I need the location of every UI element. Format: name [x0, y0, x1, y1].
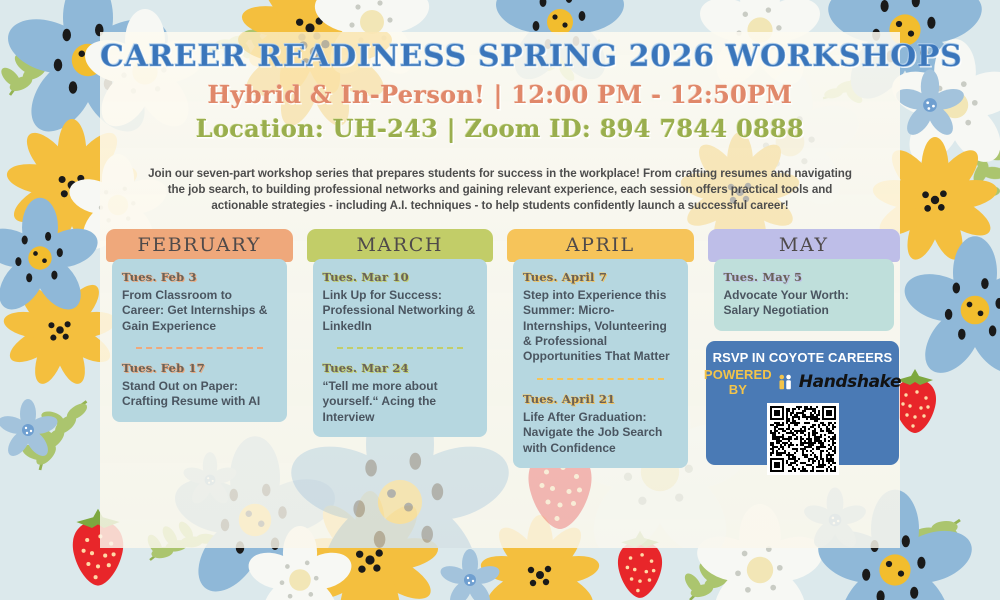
month-column-march: MARCHTues. Mar 10Link Up for Success: Pr… — [307, 229, 494, 437]
event-date: Tues. Mar 10 — [323, 270, 478, 284]
handshake-wordmark: Handshake — [799, 372, 901, 392]
month-card-april: Tues. April 7Step into Experience this S… — [513, 259, 688, 468]
event-date: Tues. May 5 — [724, 270, 884, 284]
event-title: “Tell me more about yourself.“ Acing the… — [323, 379, 478, 425]
month-column-may: MAYTues. May 5Advocate Your Worth: Salar… — [708, 229, 900, 331]
page-title: CAREER READINESS SPRING 2026 WORKSHOPS — [100, 40, 900, 74]
month-header-march: MARCH — [307, 229, 494, 262]
subtitle-format-time: Hybrid & In-Person! | 12:00 PM - 12:50PM — [100, 80, 900, 109]
event-date: Tues. Feb 3 — [122, 270, 277, 284]
event-divider — [337, 347, 464, 349]
month-column-february: FEBRUARYTues. Feb 3From Classroom to Car… — [106, 229, 293, 422]
powered-by-label: POWERED BY — [704, 367, 772, 397]
event-title: Stand Out on Paper: Crafting Resume with… — [122, 379, 277, 410]
powered-by-row: POWERED BY Handshake — [706, 367, 899, 397]
event-date: Tues. Feb 17 — [122, 361, 277, 375]
month-header-may: MAY — [708, 229, 900, 262]
month-column-april: APRILTues. April 7Step into Experience t… — [507, 229, 694, 468]
event-title: Step into Experience this Summer: Micro-… — [523, 288, 678, 365]
handshake-logo-icon — [777, 374, 794, 391]
month-card-february: Tues. Feb 3From Classroom to Career: Get… — [112, 259, 287, 422]
month-card-march: Tues. Mar 10Link Up for Success: Profess… — [313, 259, 488, 437]
month-card-may: Tues. May 5Advocate Your Worth: Salary N… — [714, 259, 894, 331]
intro-paragraph: Join our seven-part workshop series that… — [138, 166, 862, 214]
event-title: Life After Graduation: Navigate the Job … — [523, 410, 678, 456]
event-title: From Classroom to Career: Get Internship… — [122, 288, 277, 334]
event-title: Advocate Your Worth: Salary Negotiation — [724, 288, 884, 319]
event-date: Tues. Mar 24 — [323, 361, 478, 375]
month-header-april: APRIL — [507, 229, 694, 262]
subtitle-location-zoom: Location: UH-243 | Zoom ID: 894 7844 088… — [100, 114, 900, 143]
event-date: Tues. April 7 — [523, 270, 678, 284]
event-date: Tues. April 21 — [523, 392, 678, 406]
month-header-february: FEBRUARY — [106, 229, 293, 262]
event-divider — [136, 347, 263, 349]
qr-code[interactable] — [767, 403, 839, 475]
event-title: Link Up for Success: Professional Networ… — [323, 288, 478, 334]
event-divider — [537, 378, 664, 380]
poster-canvas: CAREER READINESS SPRING 2026 WORKSHOPS H… — [0, 0, 1000, 600]
rsvp-headline: RSVP IN COYOTE CAREERS — [706, 350, 899, 365]
rsvp-handshake-box[interactable]: RSVP IN COYOTE CAREERS POWERED BY Handsh… — [706, 341, 899, 465]
poster-heading-block: CAREER READINESS SPRING 2026 WORKSHOPS H… — [100, 40, 900, 143]
